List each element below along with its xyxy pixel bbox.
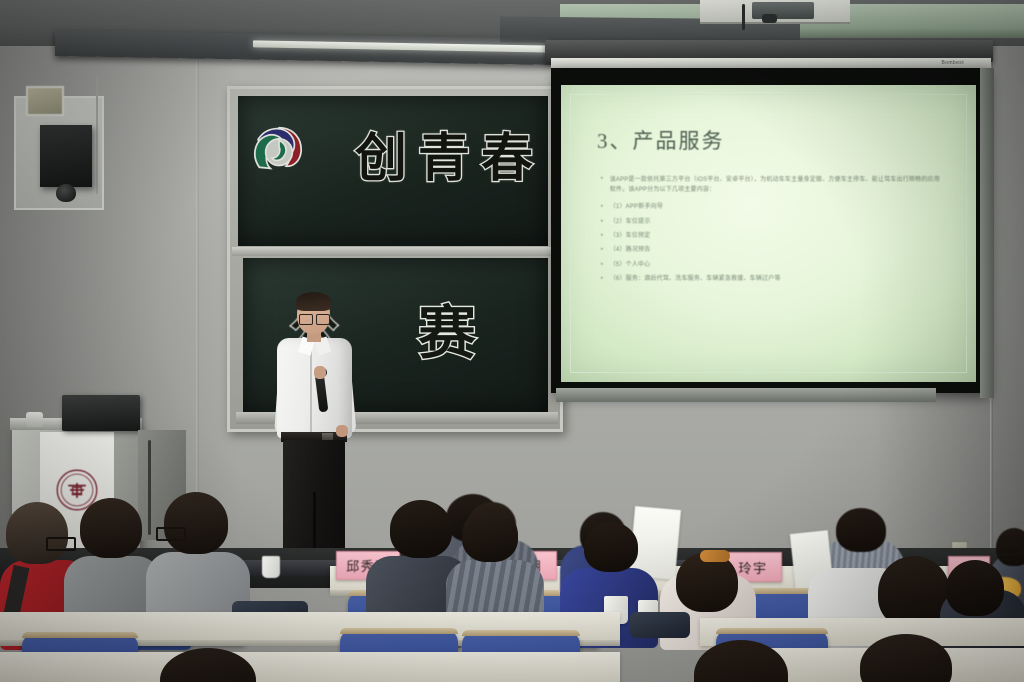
- eyeglasses-icon: [299, 314, 313, 325]
- wall-speaker-icon: [40, 125, 92, 187]
- chair-trim: [462, 630, 580, 636]
- slide-bullet: ▸ 该APP是一款依托第三方平台（iOS平台、安卓平台），为机动车车主量身定做、…: [601, 175, 941, 195]
- slide-bullet: ▸ （6）服务：酒后代驾、洗车服务、车辆紧急救援、车辆过户等: [601, 275, 941, 284]
- bullet-marker-icon: ▸: [601, 261, 604, 270]
- slide-bullet-text: （1）APP新手向导: [610, 203, 663, 212]
- projector-lens-icon: [762, 14, 777, 23]
- presenter-shirt: [277, 338, 352, 438]
- bag: [630, 612, 690, 638]
- podium-monitor-icon: [62, 395, 140, 431]
- bullet-marker-icon: ▸: [601, 175, 604, 195]
- eyeglasses-icon: [46, 537, 76, 551]
- slide-bullet: ▸ （2）车位提示: [601, 218, 941, 227]
- desk-row-front: [0, 652, 620, 682]
- camera-icon: [56, 184, 76, 202]
- projector-cable: [742, 4, 745, 30]
- presenter-hair: [296, 292, 331, 311]
- slide-bullet: ▸ （3）车位预定: [601, 232, 941, 241]
- slide-bullet-list: ▸ 该APP是一款依托第三方平台（iOS平台、安卓平台），为机动车车主量身定做、…: [601, 175, 941, 289]
- slide-bullet: ▸ （1）APP新手向导: [601, 203, 941, 212]
- bullet-marker-icon: ▸: [601, 246, 604, 255]
- bullet-marker-icon: ▸: [601, 218, 604, 227]
- slide-bullet-text: （2）车位提示: [610, 218, 651, 227]
- blackboard-banner-text: 创青春: [355, 116, 544, 191]
- hair-clip-icon: [700, 550, 730, 562]
- presenter-shirt-placket: [310, 350, 312, 436]
- slide-bullet-text: （3）车位预定: [610, 232, 651, 241]
- chuangqingchun-swirl-logo: [250, 122, 308, 180]
- projection-screen: 3、产品服务 ▸ 该APP是一款依托第三方平台（iOS平台、安卓平台），为机动车…: [561, 85, 976, 382]
- cabinet-cable: [148, 440, 151, 535]
- screen-bottom-trim: [556, 388, 936, 402]
- lecture-hall-photo: 创青春 公 赛 Bombest 3、产品服务 ▸ 该APP是一款依托第三方平台（…: [0, 0, 1024, 682]
- eyeglasses-icon: [156, 527, 186, 541]
- presenter-hand: [314, 366, 326, 379]
- slide-bullet-text: （6）服务：酒后代驾、洗车服务、车辆紧急救援、车辆过户等: [610, 275, 781, 284]
- slide-bullet: ▸ （4）路况预告: [601, 246, 941, 255]
- slide-content: 3、产品服务 ▸ 该APP是一款依托第三方平台（iOS平台、安卓平台），为机动车…: [561, 85, 976, 382]
- eyeglasses-icon: [316, 314, 330, 325]
- chair-trim: [22, 632, 138, 638]
- screen-brand-label: Bombest: [941, 60, 964, 66]
- presenter-hand: [336, 425, 348, 437]
- podium-microphone-icon: [26, 412, 43, 427]
- slide-bullet: ▸ （5）个人中心: [601, 261, 941, 270]
- bullet-marker-icon: ▸: [601, 232, 604, 241]
- blackboard-char-sai: 赛: [418, 286, 476, 370]
- chair-trim: [716, 628, 828, 634]
- electrical-panel-icon: [26, 86, 64, 116]
- blackboard-chalk-rail: [232, 247, 554, 256]
- slide-bullet-text: 该APP是一款依托第三方平台（iOS平台、安卓平台），为机动车车主量身定做、方便…: [610, 175, 941, 195]
- chair-trim: [340, 628, 458, 634]
- wall-cable: [96, 74, 98, 194]
- bullet-marker-icon: ▸: [601, 275, 604, 284]
- slide-bullet-text: （5）个人中心: [610, 261, 651, 270]
- slide-title: 3、产品服务: [597, 125, 725, 155]
- screen-side-trim: [980, 68, 994, 398]
- bullet-marker-icon: ▸: [601, 203, 604, 212]
- slide-bullet-text: （4）路况预告: [610, 246, 651, 255]
- paper-cup: [262, 556, 280, 578]
